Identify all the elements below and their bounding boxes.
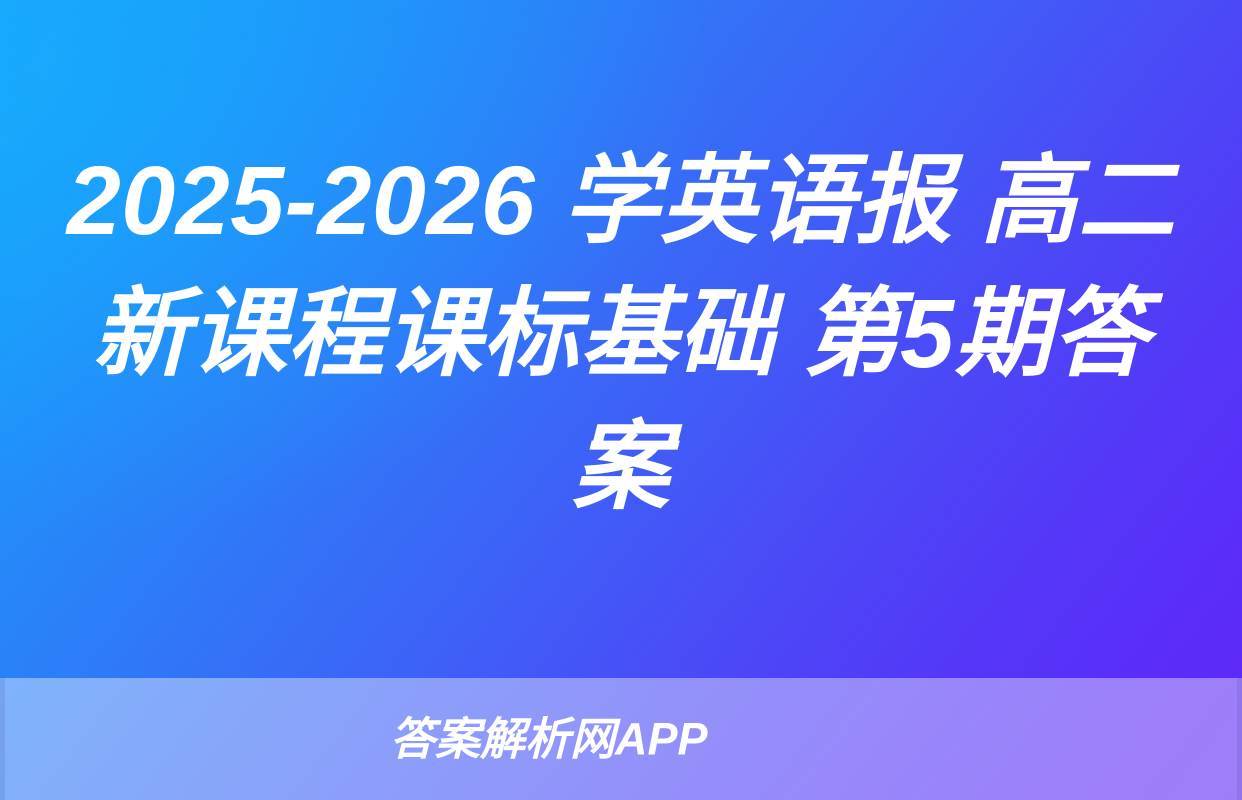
watermark-bar: 答案解析网APP xyxy=(0,678,1242,800)
title-area: 2025-2026 学英语报 高二 新课程课标基础 第5期答案 xyxy=(0,0,1242,678)
page-title: 2025-2026 学英语报 高二 新课程课标基础 第5期答案 xyxy=(56,134,1186,533)
promo-banner: 2025-2026 学英语报 高二 新课程课标基础 第5期答案 答案解析网APP xyxy=(0,0,1242,800)
bar-edge-strip-left xyxy=(0,678,5,800)
watermark-app-label: 答案解析网APP xyxy=(390,717,708,762)
bar-edge-strip-right xyxy=(1237,678,1242,800)
